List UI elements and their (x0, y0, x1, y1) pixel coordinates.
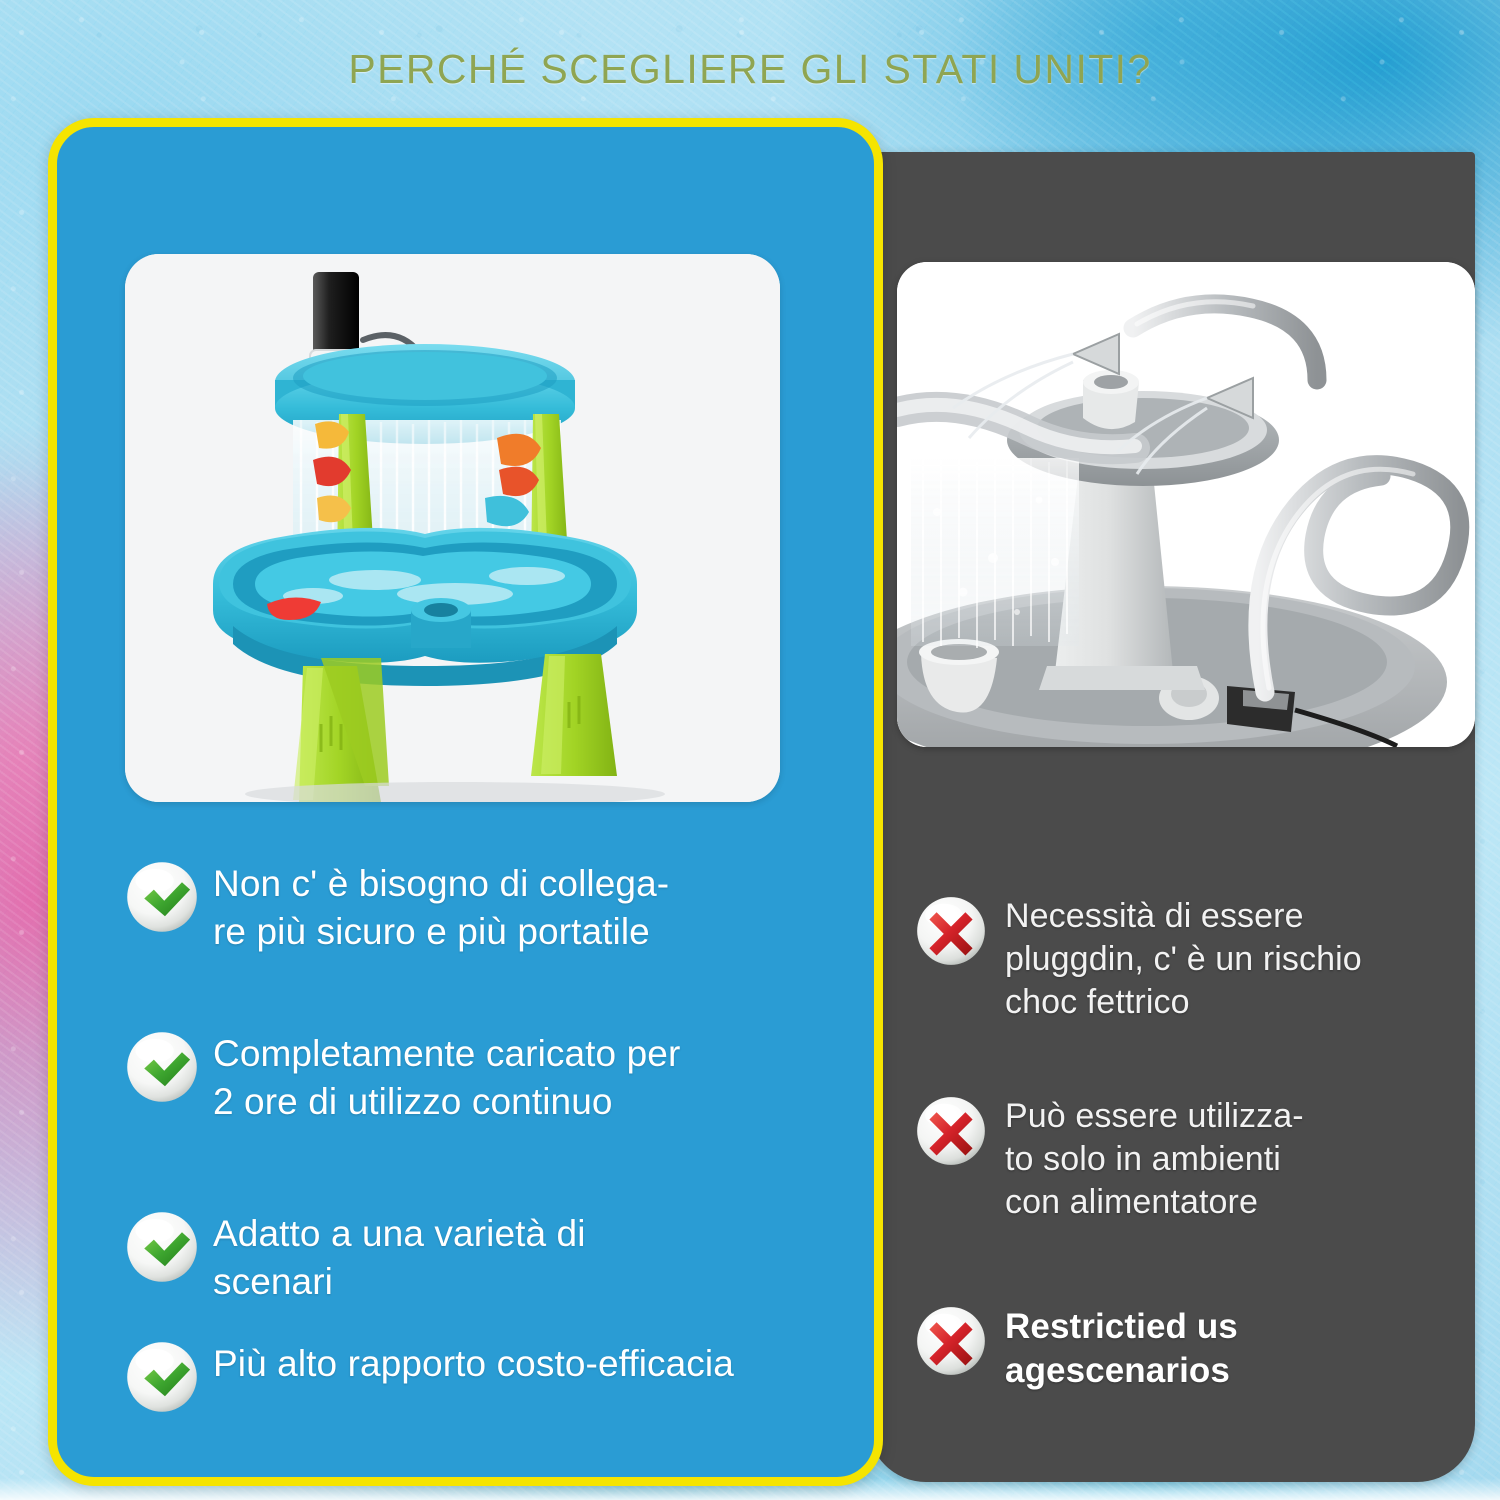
cons-list-item-label: Restrictied us agescenarios (1005, 1305, 1238, 1394)
check-icon (125, 1030, 199, 1104)
cons-product-photo (897, 262, 1475, 747)
check-icon (125, 860, 199, 934)
corded-water-table-illustration (897, 262, 1475, 747)
cons-list-item: Può essere utilizza- to solo in ambienti… (915, 1095, 1475, 1225)
pros-product-photo (125, 254, 780, 802)
cordless-water-table-illustration (125, 254, 780, 802)
pros-list-item-label: Completamente caricato per 2 ore di util… (213, 1030, 680, 1126)
pros-list-item: Più alto rapporto costo-efficacia (125, 1340, 825, 1414)
pros-list-item: Adatto a una varietà di scenari (125, 1210, 825, 1306)
pros-list-item-label: Adatto a una varietà di scenari (213, 1210, 586, 1306)
cons-list-item: Necessità di essere pluggdin, c' è un ri… (915, 895, 1475, 1025)
cons-list-item-label: Può essere utilizza- to solo in ambienti… (1005, 1095, 1304, 1225)
pros-list-item-label: Non c' è bisogno di collega- re più sicu… (213, 860, 669, 956)
cross-icon (915, 895, 987, 967)
page-title: PERCHÉ SCEGLIERE GLI STATI UNITI? (0, 46, 1500, 93)
pros-list-item: Non c' è bisogno di collega- re più sicu… (125, 860, 825, 956)
check-icon (125, 1340, 199, 1414)
pros-list-item: Completamente caricato per 2 ore di util… (125, 1030, 825, 1126)
cross-icon (915, 1305, 987, 1377)
pros-list-item-label: Più alto rapporto costo-efficacia (213, 1340, 734, 1388)
cons-list-item: Restrictied us agescenarios (915, 1305, 1475, 1394)
cons-list-item-label: Necessità di essere pluggdin, c' è un ri… (1005, 895, 1362, 1025)
cross-icon (915, 1095, 987, 1167)
check-icon (125, 1210, 199, 1284)
